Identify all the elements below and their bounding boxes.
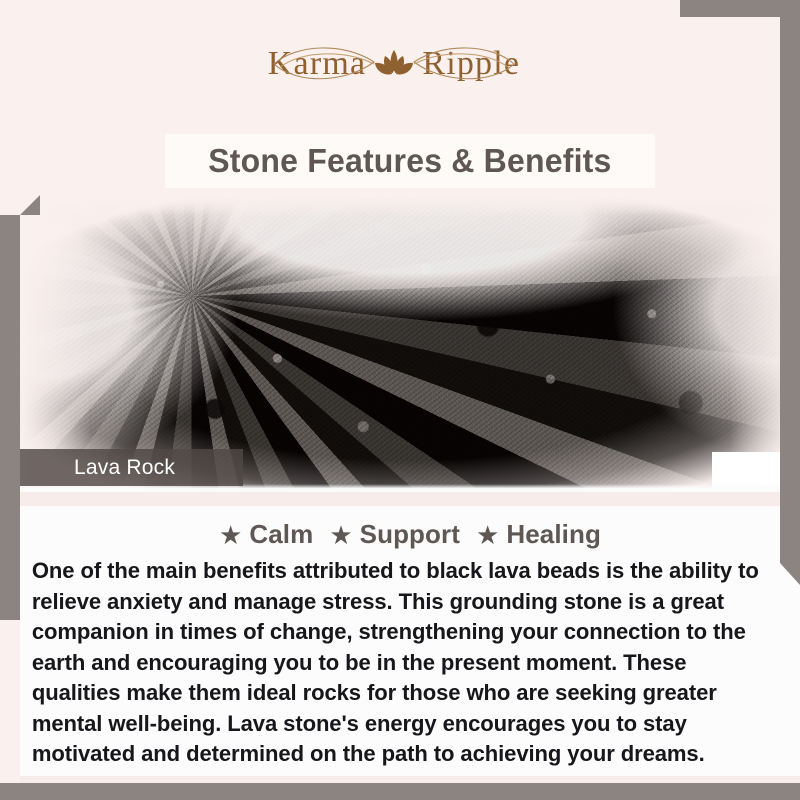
logo-word-left: Karma	[268, 45, 367, 83]
title-band: Stone Features & Benefits	[165, 134, 655, 188]
body-paragraph: One of the main benefits attributed to b…	[20, 556, 788, 770]
star-icon: ★	[329, 522, 352, 548]
lotus-glyph	[366, 44, 422, 84]
benefit-label: Healing	[506, 519, 601, 550]
rock-vignette-mask	[20, 195, 800, 492]
logo-word-right: Ripple	[422, 45, 520, 83]
frame-bar-bottom	[0, 783, 800, 800]
frame-bevel-right	[780, 563, 800, 585]
brand-header: Karma Ripple	[0, 0, 800, 135]
lotus-icon	[366, 44, 422, 84]
logo: Karma Ripple	[268, 44, 520, 84]
frame-bottom-cream	[20, 776, 800, 783]
frame-bar-right	[780, 0, 800, 563]
benefit-item-healing: ★ Healing	[476, 519, 601, 550]
star-icon: ★	[219, 522, 242, 548]
photo-caption-label: Lava Rock	[20, 456, 175, 480]
lava-rock-photo	[20, 195, 800, 492]
star-icon: ★	[476, 522, 499, 548]
infographic-poster: Karma Ripple	[0, 0, 800, 800]
benefit-item-support: ★ Support	[329, 519, 460, 550]
benefits-row: ★ Calm ★ Support ★ Healing	[20, 506, 800, 550]
benefit-item-calm: ★ Calm	[219, 519, 313, 550]
content-panel: ★ Calm ★ Support ★ Healing One of the ma…	[20, 506, 800, 776]
benefit-label: Calm	[249, 519, 313, 550]
benefit-label: Support	[360, 519, 460, 550]
photo-caption-banner: Lava Rock	[20, 449, 243, 486]
content-divider-strip	[20, 492, 800, 506]
frame-bar-left	[0, 215, 20, 620]
frame-bevel-left	[0, 195, 40, 215]
page-title: Stone Features & Benefits	[208, 142, 611, 180]
